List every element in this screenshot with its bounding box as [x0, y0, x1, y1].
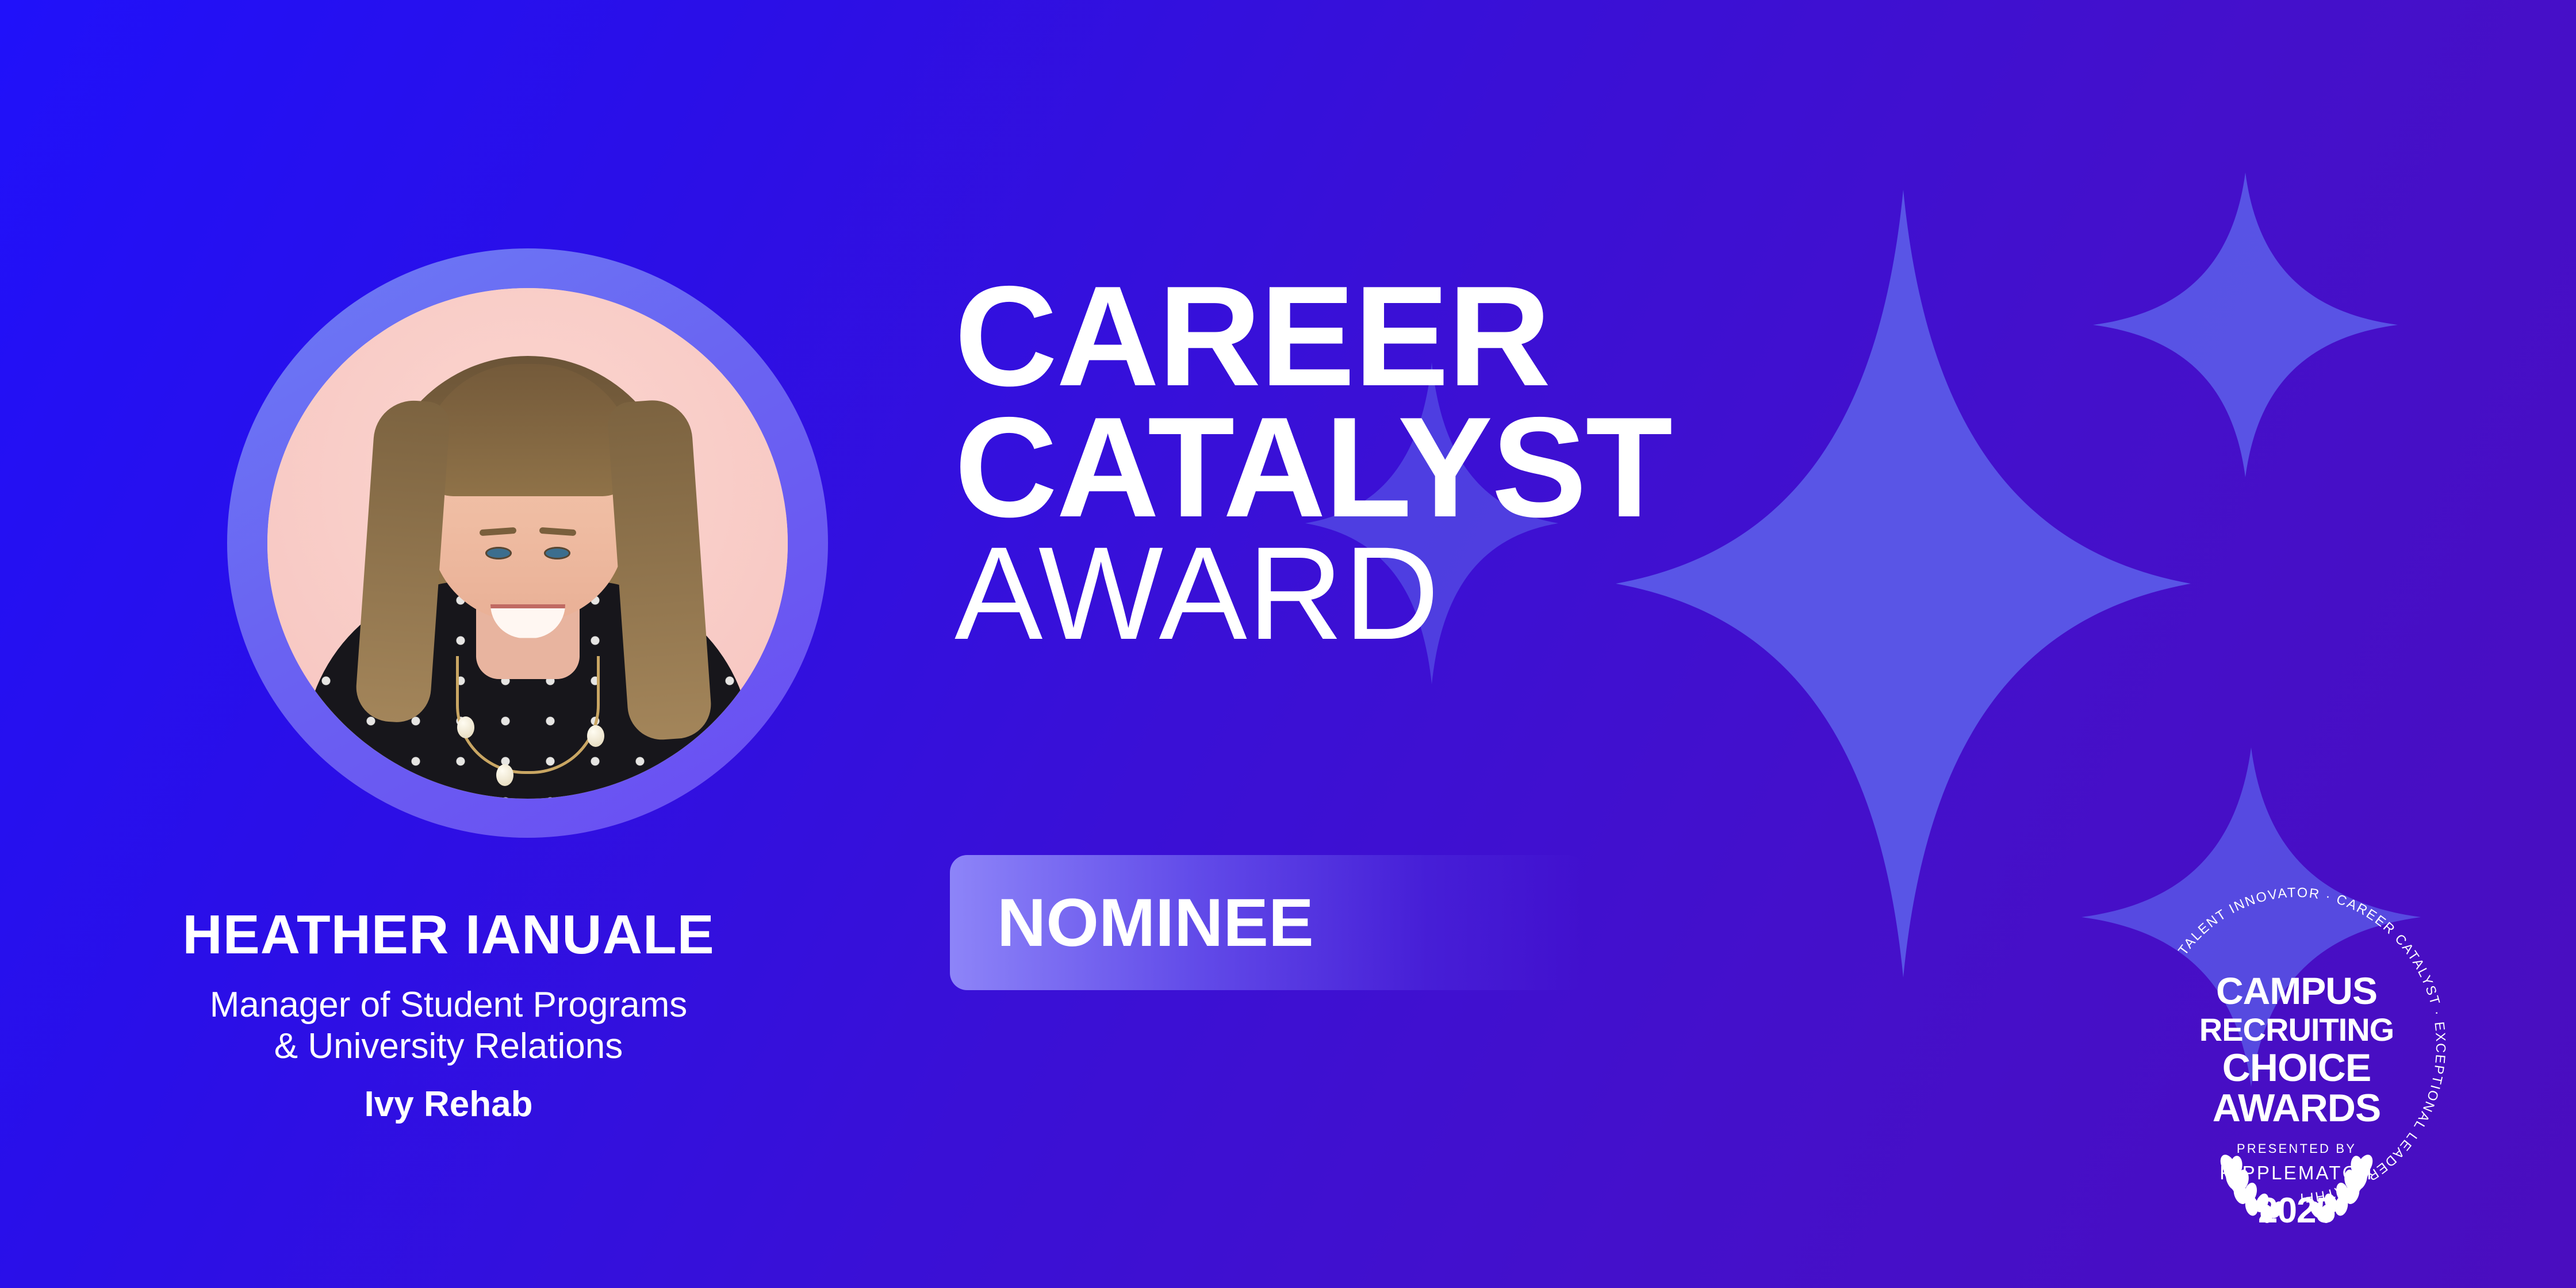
seal-title-line-3: CHOICE — [2222, 1046, 2371, 1090]
seal-presented-by: PRESENTED BY — [2237, 1141, 2356, 1156]
seal-title-line-2: RECRUITING — [2199, 1011, 2394, 1048]
nominee-company: Ivy Rehab — [0, 1087, 897, 1122]
seal-title-line-1: CAMPUS — [2216, 969, 2377, 1012]
avatar — [267, 288, 788, 799]
avatar-ring — [227, 248, 828, 838]
award-seal: TALENT INNOVATOR · CAREER CATALYST · EXC… — [2118, 879, 2475, 1230]
seal-title-line-4: AWARDS — [2213, 1086, 2380, 1130]
seal-year: 2025 — [2258, 1191, 2335, 1230]
nominee-job-title-line-2: & University Relations — [0, 1026, 897, 1067]
award-title-line-3: AWARD — [954, 532, 2162, 654]
status-badge: NOMINEE — [950, 855, 1585, 990]
nominee-job-title: Manager of Student Programs & University… — [0, 984, 897, 1067]
award-title: CAREER CATALYST AWARD — [954, 270, 2162, 654]
nominee-profile-block: HEATHER IANUALE Manager of Student Progr… — [0, 0, 897, 1288]
award-announcement-card: HEATHER IANUALE Manager of Student Progr… — [0, 0, 2576, 1288]
award-title-line-1: CAREER — [954, 270, 2162, 401]
nominee-name: HEATHER IANUALE — [0, 907, 897, 963]
status-badge-label: NOMINEE — [997, 884, 1314, 962]
award-title-line-2: CATALYST — [954, 401, 2162, 532]
nominee-job-title-line-1: Manager of Student Programs — [0, 984, 897, 1026]
